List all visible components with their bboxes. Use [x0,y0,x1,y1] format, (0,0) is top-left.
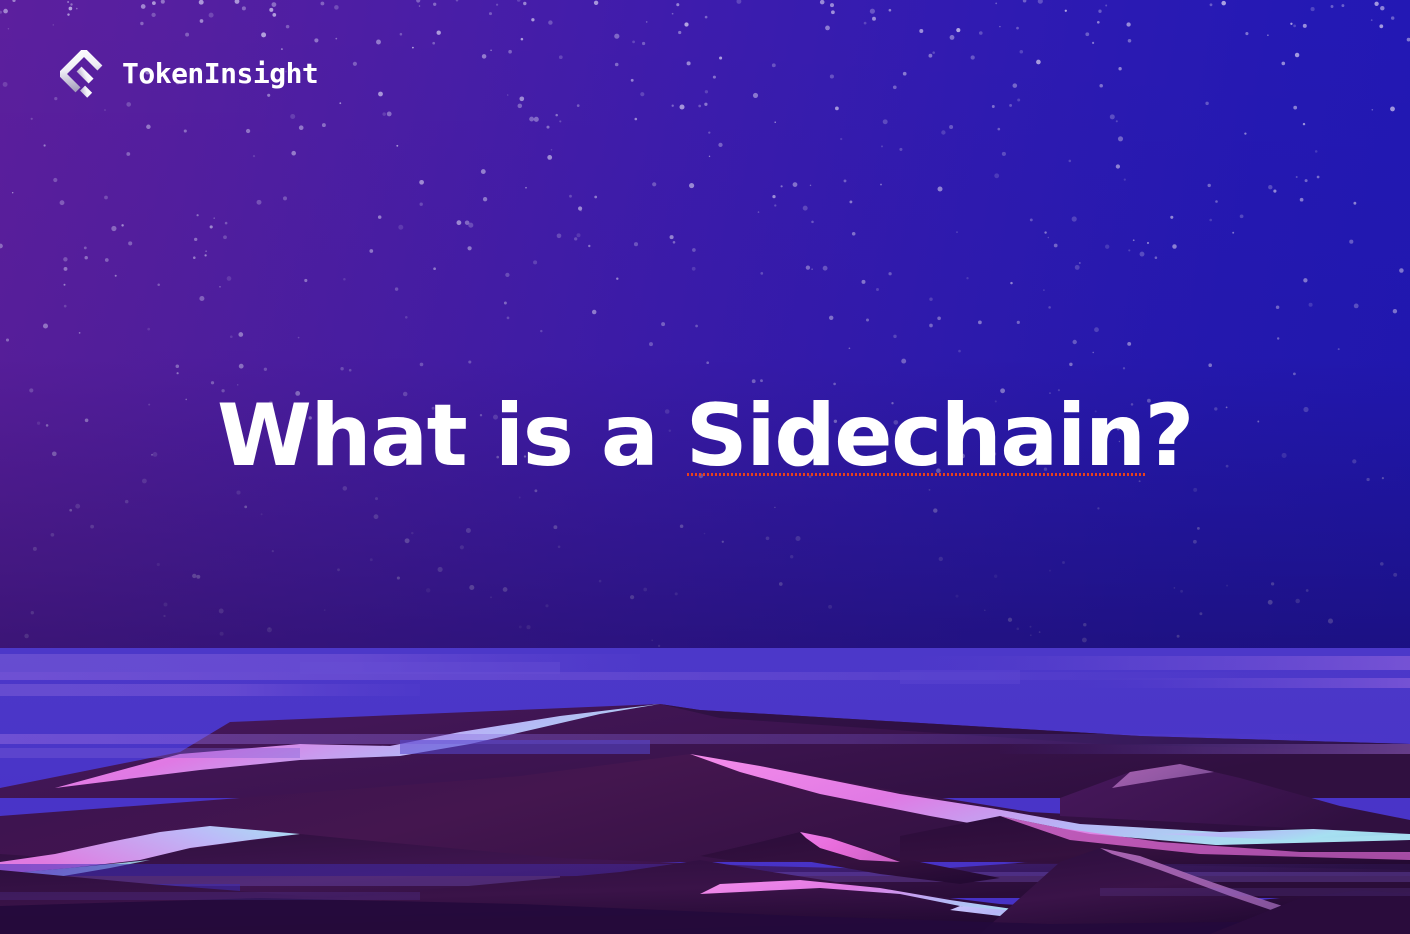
mountain-landscape-art [0,648,1410,934]
page-title: What is a Sidechain? [217,388,1193,484]
headline-text-before: What is a [217,386,686,486]
headline-container: What is a Sidechain? [0,388,1410,484]
headline-text-after: ? [1145,386,1193,486]
tokeninsight-diamond-logo-icon [60,50,108,98]
headline-misspelled-word[interactable]: Sidechain [686,388,1145,484]
sidechain-article-banner: TokenInsight What is a Sidechain? [0,0,1410,934]
tokeninsight-wordmark: TokenInsight [122,60,318,88]
mountain-landscape [0,648,1410,934]
atmospheric-stripes [0,654,1410,696]
tokeninsight-logo[interactable]: TokenInsight [60,50,318,98]
